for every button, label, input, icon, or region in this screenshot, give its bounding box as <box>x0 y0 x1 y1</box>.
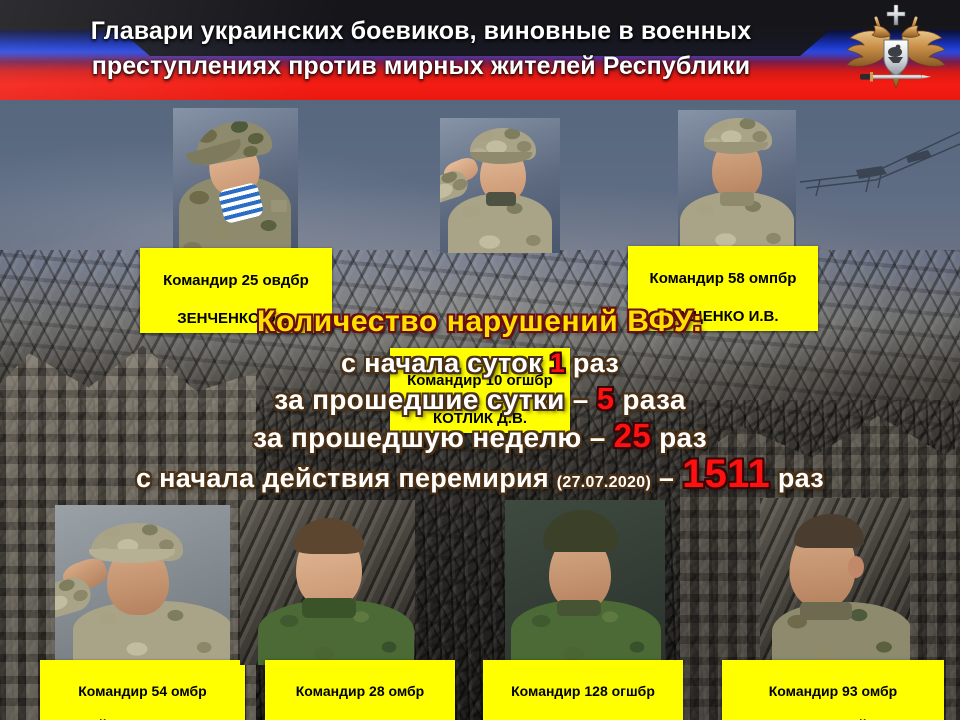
label-brizhinskiy: Командир 93 омбр БРИЖИНСКИЙ Д.В. <box>722 660 944 720</box>
label-unit: Командир 93 омбр <box>769 683 897 699</box>
poster-root: Главари украинских боевиков, виновные в … <box>0 0 960 720</box>
collar <box>486 192 516 206</box>
label-marchenko: Командир 28 омбр МАРЧЕНКО М.М. <box>265 660 455 720</box>
label-goncharuk: Командир 128 огшбр ГОНЧАРУК О.Н. <box>483 660 683 720</box>
stats-row-day: за прошедшие сутки – 5 раза <box>0 381 960 418</box>
header-banner: Главари украинских боевиков, виновные в … <box>0 0 960 100</box>
label-unit: Командир 28 омбр <box>296 683 424 699</box>
stats-row-value: 25 <box>614 417 651 454</box>
jacket-collar <box>302 598 356 618</box>
portrait-kotlik <box>440 118 560 253</box>
stats-row-label: за прошедшую неделю – <box>253 422 606 453</box>
stats-row-suffix: раз <box>659 422 707 453</box>
collar <box>800 602 852 620</box>
ear <box>848 556 864 578</box>
stats-row-today: с начала суток 1 раз <box>0 345 960 381</box>
label-unit: Командир 58 омпбр <box>650 270 797 287</box>
stats-row-value: 1 <box>550 348 565 378</box>
stats-row-value: 5 <box>597 381 615 416</box>
stats-row-label: с начала суток <box>341 348 542 378</box>
label-unit: Командир 54 омбр <box>78 683 206 699</box>
portrait-maistrenko <box>55 505 230 665</box>
stats-row-week: за прошедшую неделю – 25 раз <box>0 418 960 456</box>
portrait-goncharuk <box>505 500 665 665</box>
stats-truce-date: (27.07.2020) <box>557 474 651 491</box>
stats-row-suffix: раз <box>778 463 824 493</box>
portrait-marchenko <box>240 500 415 665</box>
label-unit: Командир 128 огшбр <box>511 683 655 699</box>
portrait-brizhinskiy <box>760 498 910 666</box>
stats-row-suffix: раза <box>622 384 685 415</box>
collar <box>720 192 754 206</box>
stats-row-label: за прошедшие сутки – <box>274 384 588 415</box>
stats-row-label: с начала действия перемирия <box>136 463 549 493</box>
page-title: Главари украинских боевиков, виновные в … <box>26 14 816 84</box>
violations-stats-block: Количество нарушений ВФУ: с начала суток… <box>0 305 960 501</box>
double-headed-eagle-icon <box>840 2 952 98</box>
portrait-zenchenko <box>173 108 298 253</box>
label-maistrenko: Командир 54 омбр МАЙСТРЕНКО М.М. <box>40 660 245 720</box>
portrait-kashchenko <box>678 110 796 252</box>
shoulder-patch <box>271 200 287 212</box>
stats-row-value: 1511 <box>682 452 770 496</box>
stats-row-truce: с начала действия перемирия (27.07.2020)… <box>0 456 960 501</box>
stats-row-suffix: раз <box>573 348 619 378</box>
stats-heading: Количество нарушений ВФУ: <box>0 305 960 339</box>
label-unit: Командир 25 овдбр <box>163 272 309 289</box>
collar <box>557 600 601 616</box>
stats-row-dash: – <box>659 463 674 493</box>
